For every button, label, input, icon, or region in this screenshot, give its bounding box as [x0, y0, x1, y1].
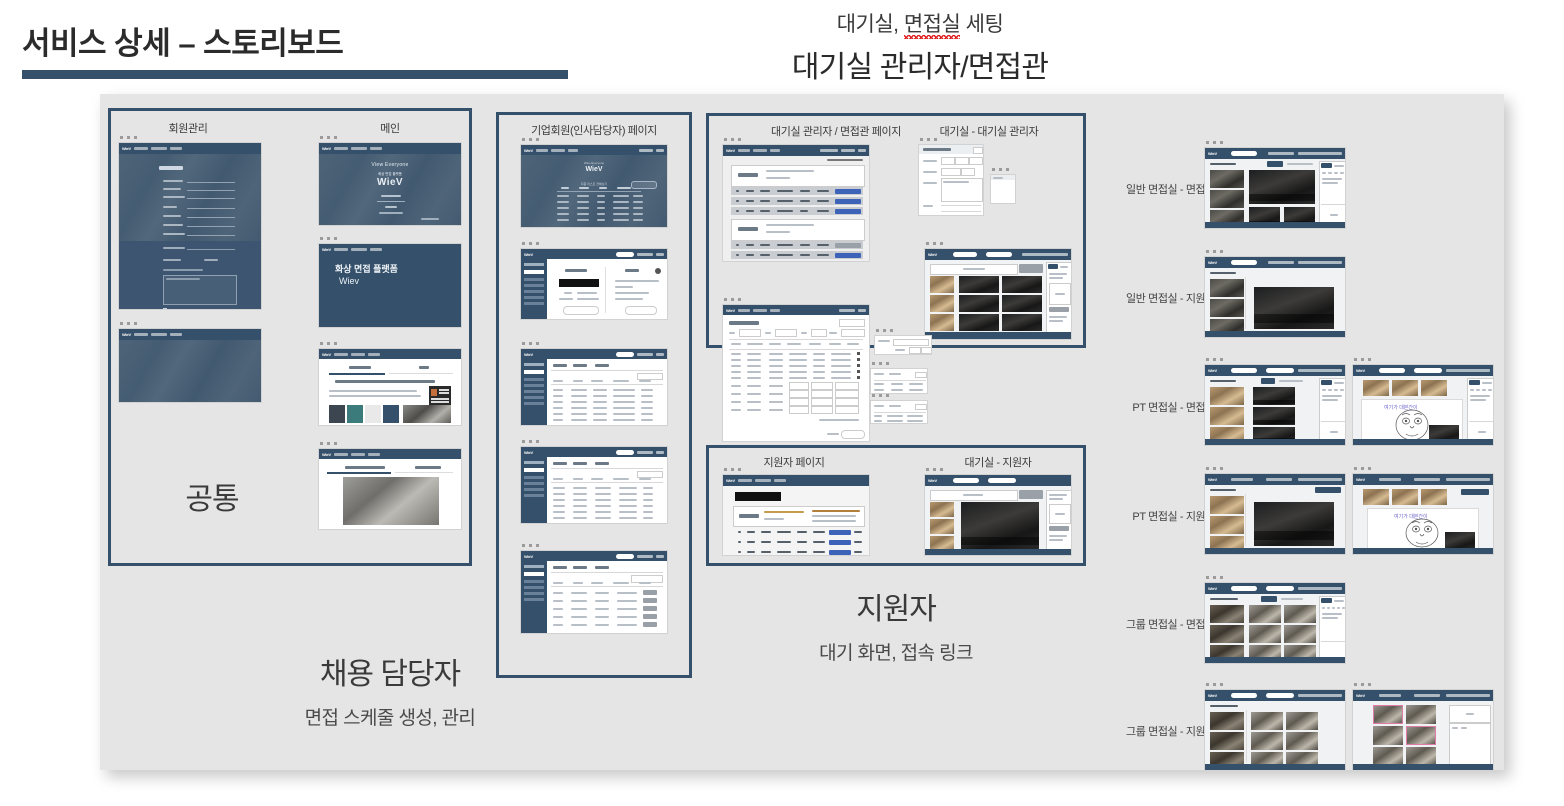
- window-mock-member-hero[interactable]: WieV: [118, 322, 262, 403]
- caption-bar: [961, 537, 1039, 545]
- window-dots: [318, 237, 462, 240]
- window-mock-platform[interactable]: WieV 화상 면접 플랫폼 Wiev: [318, 237, 462, 328]
- video-tile-selected[interactable]: [1406, 726, 1436, 745]
- row-checkbox[interactable]: [857, 376, 860, 379]
- window-mock-group-applicant[interactable]: WieV: [1204, 683, 1346, 771]
- page-heading: [729, 321, 759, 325]
- room-title-bar: [930, 264, 1018, 275]
- brand-logo: WieV: [1208, 260, 1217, 265]
- enter-room-button[interactable]: [835, 199, 861, 204]
- tab-button[interactable]: [1469, 380, 1480, 385]
- window-mock-pt-interviewer-board[interactable]: WieV 여기가 대본간이: [1352, 358, 1494, 446]
- video-tile[interactable]: [1210, 712, 1244, 730]
- tab-button[interactable]: [1048, 264, 1058, 269]
- hero-brand: WieV: [521, 166, 667, 173]
- side-panel: [1319, 378, 1346, 446]
- group-name: [739, 514, 759, 518]
- video-tile[interactable]: [1210, 605, 1244, 623]
- header-sub-pre: 대기실,: [837, 13, 904, 36]
- notice-box: [1049, 283, 1071, 305]
- mode-button[interactable]: [1261, 378, 1275, 384]
- video-tile[interactable]: [1210, 496, 1244, 514]
- footer-bar: [1205, 764, 1345, 770]
- section-heading-main: 메인: [380, 120, 399, 136]
- caption-main: 공통: [185, 474, 238, 518]
- window-dots: [520, 242, 668, 245]
- enter-room-button[interactable]: [829, 550, 851, 555]
- board-caption-common: 공통: [185, 474, 238, 518]
- brand-logo: WieV: [524, 554, 533, 559]
- brand-logo: WieV: [1208, 477, 1217, 482]
- window-mock-corp-hero[interactable]: WieV Wiev Everyone WieV 지원 리스트 전체보기: [520, 138, 668, 228]
- window-mock-applicant-page[interactable]: WieV: [722, 468, 870, 556]
- group-name: [738, 227, 758, 231]
- row-label-pt-applicant: PT 면접실 - 지원자: [1110, 508, 1215, 524]
- footer-bar: [1205, 657, 1345, 663]
- video-tile[interactable]: [1253, 387, 1295, 405]
- video-tile[interactable]: [1210, 299, 1244, 317]
- schedule-card: [733, 506, 865, 527]
- video-tile[interactable]: [1421, 489, 1447, 505]
- applicant-row[interactable]: [733, 548, 863, 556]
- board-caption-recruiter: 채용 담당자 면접 스케줄 생성, 관리: [305, 649, 476, 730]
- caption-main: 지원자: [819, 584, 973, 628]
- search-input[interactable]: [637, 373, 663, 380]
- inline-input[interactable]: [789, 406, 809, 414]
- caption-bar: [1254, 531, 1334, 540]
- window-mock-waitroom-applicant[interactable]: WieV: [924, 468, 1072, 556]
- request-button[interactable]: [1461, 489, 1489, 495]
- spellcheck-underlined-word: 면접실: [904, 13, 960, 36]
- inline-input[interactable]: [835, 390, 859, 398]
- video-tile-main[interactable]: [1249, 170, 1315, 204]
- storyboard-canvas: 회원관리 메인 WieV: [100, 94, 1504, 770]
- caption-main: 채용 담당자: [305, 649, 476, 693]
- inline-input[interactable]: [835, 398, 859, 406]
- save-button[interactable]: [841, 430, 865, 439]
- board-caption-applicant: 지원자 대기 화면, 접속 링크: [819, 584, 973, 665]
- enter-room-button[interactable]: [829, 540, 851, 545]
- window-dots: [918, 138, 984, 141]
- video-tile[interactable]: [1406, 705, 1436, 724]
- side-panel: [1046, 262, 1072, 334]
- filter-select[interactable]: [811, 329, 827, 337]
- popup-button[interactable]: [921, 347, 932, 354]
- tab-button[interactable]: [1321, 163, 1332, 168]
- inline-input[interactable]: [835, 382, 859, 390]
- caption-bar: [1253, 420, 1295, 424]
- search-input[interactable]: [637, 471, 663, 478]
- window-dots: [722, 138, 870, 141]
- video-tile[interactable]: [1253, 407, 1295, 425]
- window-dots: [870, 394, 928, 397]
- video-tile[interactable]: [1210, 407, 1244, 425]
- window-mock-signup[interactable]: WieV: [118, 136, 262, 310]
- schedule-row[interactable]: [731, 251, 863, 259]
- tab-button[interactable]: [1321, 598, 1332, 603]
- video-tile[interactable]: [1363, 380, 1389, 396]
- brand-logo: WieV: [1356, 477, 1365, 482]
- side-panel: [1319, 596, 1346, 664]
- side-panel-bottom: [1449, 723, 1491, 768]
- footer-bar: [1205, 222, 1345, 228]
- group-name: [738, 173, 758, 177]
- section-heading-corp-member: 기업회원(인사담당자) 페이지: [531, 122, 657, 138]
- window-dots: [1352, 683, 1494, 686]
- window-dots: [722, 298, 870, 301]
- window-dots: [1204, 576, 1346, 579]
- video-tile[interactable]: [959, 314, 999, 331]
- row-checkbox[interactable]: [857, 352, 860, 355]
- mode-button[interactable]: [1261, 596, 1277, 602]
- footer-bar: [925, 549, 1071, 555]
- row-label-normal-interviewer: 일반 면접실 - 면접관: [1110, 181, 1215, 197]
- video-tile[interactable]: [1210, 732, 1244, 750]
- side-panel: [1046, 490, 1072, 550]
- applicant-row[interactable]: [733, 538, 863, 546]
- row-action-button[interactable]: [643, 606, 657, 611]
- caption-bar: [1253, 400, 1295, 404]
- brand-logo: WieV: [322, 146, 331, 151]
- video-tile[interactable]: [1002, 276, 1042, 293]
- video-tile[interactable]: [930, 314, 954, 331]
- row-action-button[interactable]: [643, 622, 657, 627]
- window-dots: [520, 544, 668, 547]
- footer-bar: [1353, 764, 1493, 770]
- brand-logo: WieV: [322, 247, 331, 252]
- company-title-line: [565, 269, 587, 272]
- schedule-row[interactable]: [731, 187, 863, 195]
- video-tile[interactable]: [1210, 170, 1244, 188]
- row-label-pt-interviewer: PT 면접실 - 면접관: [1110, 399, 1215, 415]
- header-subtitle-small: 대기실, 면접실 세팅: [837, 8, 1004, 38]
- inline-input[interactable]: [811, 398, 833, 406]
- window-dots: [318, 342, 462, 345]
- option-chip[interactable]: [941, 157, 955, 165]
- window-mock-pt-applicant-board[interactable]: WieV 여기가 대본간이: [1352, 467, 1494, 555]
- side-panel: [1467, 378, 1494, 446]
- waiting-room-button[interactable]: [835, 253, 861, 258]
- window-dots: [1352, 358, 1494, 361]
- video-tile[interactable]: [1210, 516, 1244, 534]
- brand-logo: WieV: [122, 146, 131, 151]
- window-mock-normal-interviewer[interactable]: WieV: [1204, 141, 1346, 229]
- window-dots: [1204, 250, 1346, 253]
- inline-input[interactable]: [811, 382, 833, 390]
- schedule-row[interactable]: [731, 241, 863, 249]
- hero-sub: 화상 면접 플랫폼: [319, 171, 461, 176]
- section-heading-member-mgmt: 회원관리: [169, 120, 208, 136]
- video-tile[interactable]: [930, 295, 954, 312]
- brand-logo: WieV: [322, 352, 331, 357]
- window-mock-list-2[interactable]: WieV: [520, 440, 668, 524]
- video-tile[interactable]: [1286, 712, 1318, 730]
- filter-select[interactable]: [739, 329, 761, 337]
- video-tile[interactable]: [1286, 732, 1318, 750]
- popup-button[interactable]: [909, 347, 921, 354]
- window-mock-popup-c[interactable]: [870, 394, 928, 424]
- video-tile-main[interactable]: [1254, 287, 1334, 329]
- window-dots: [118, 136, 262, 139]
- brand-logo: WieV: [322, 452, 331, 457]
- header-subtitle-big: 대기실 관리자/면접관: [640, 42, 1200, 86]
- video-tile[interactable]: [1363, 489, 1389, 505]
- window-dots: [924, 242, 1072, 245]
- window-mock-popup-b[interactable]: [870, 362, 928, 394]
- window-mock-popup-a[interactable]: [874, 329, 932, 355]
- video-tile[interactable]: [1392, 380, 1418, 396]
- window-mock-pt-applicant[interactable]: WieV: [1204, 467, 1346, 555]
- close-icon[interactable]: [973, 147, 983, 154]
- row-action-button[interactable]: [643, 598, 657, 603]
- video-tile[interactable]: [930, 519, 954, 534]
- video-tile[interactable]: [1210, 190, 1244, 208]
- notice-box: [1049, 504, 1071, 524]
- video-tile[interactable]: [930, 276, 954, 293]
- filter-input[interactable]: [841, 329, 865, 337]
- row-label-group-applicant: 그룹 면접실 - 지원자: [1110, 723, 1215, 739]
- footer-bar: [1205, 548, 1345, 554]
- section-heading-waitroom-admin: 대기실 관리자 / 면접관 페이지: [771, 123, 901, 139]
- window-mock-content[interactable]: WieV: [318, 342, 462, 426]
- profile-action-button[interactable]: [625, 306, 657, 315]
- video-tile[interactable]: [1249, 625, 1281, 643]
- window-mock-profile[interactable]: WieV: [520, 242, 668, 320]
- popup-button[interactable]: [915, 372, 927, 378]
- caption-bar: [1254, 314, 1334, 323]
- whiteboard-face-drawing: [1392, 517, 1452, 549]
- video-tile[interactable]: [1392, 489, 1418, 505]
- video-preview: [343, 477, 439, 525]
- popup-input[interactable]: [893, 339, 929, 346]
- footer-bar: [925, 332, 1071, 339]
- window-dots: [870, 362, 928, 365]
- window-dots: [520, 138, 668, 141]
- side-panel-top: [1449, 705, 1491, 723]
- popup-button[interactable]: [915, 404, 927, 410]
- option-chip[interactable]: [961, 168, 975, 176]
- inline-input[interactable]: [789, 398, 809, 406]
- window-dots: [520, 342, 668, 345]
- section-heading-waitroom-manager: 대기실 - 대기실 관리자: [940, 123, 1039, 139]
- window-mock-waitroom-manager[interactable]: WieV: [924, 242, 1072, 340]
- video-tile[interactable]: [1284, 625, 1316, 643]
- gear-icon[interactable]: [655, 268, 661, 274]
- footer-bar: [1353, 548, 1493, 554]
- submit-button[interactable]: [1049, 307, 1069, 312]
- window-dots: [118, 322, 262, 325]
- brand-logo: WieV: [122, 332, 131, 337]
- footer-bar: [1205, 439, 1345, 445]
- header-sub-post: 세팅: [960, 13, 1003, 36]
- option-chip[interactable]: [955, 157, 969, 165]
- window-dots: [1204, 467, 1346, 470]
- window-mock-group-applicant-grid[interactable]: WieV: [1352, 683, 1494, 771]
- window-mock-group-interviewer[interactable]: WieV: [1204, 576, 1346, 664]
- caption-sub: 면접 스케줄 생성, 관리: [305, 703, 476, 730]
- title-underline-bar: [22, 70, 568, 79]
- window-dots: [874, 329, 932, 332]
- window-dots: [1204, 683, 1346, 686]
- inline-input[interactable]: [789, 390, 809, 398]
- brand-logo: WieV: [726, 478, 735, 483]
- row-checkbox[interactable]: [857, 358, 860, 361]
- applicant-row[interactable]: [733, 528, 863, 536]
- window-dots: [1204, 358, 1346, 361]
- video-tile[interactable]: [1249, 605, 1281, 623]
- brand-logo: WieV: [1208, 151, 1217, 156]
- window-mock-list-3[interactable]: WieV: [520, 544, 668, 634]
- inline-input[interactable]: [835, 406, 859, 414]
- schedule-card-1: [731, 165, 865, 187]
- request-button[interactable]: [1315, 487, 1341, 493]
- video-tile[interactable]: [1421, 380, 1447, 396]
- brand-logo: WieV: [928, 478, 937, 483]
- enter-room-button[interactable]: [835, 209, 861, 214]
- platform-title: 화상 면접 플랫폼: [335, 262, 398, 275]
- page-title: 서비스 상세 – 스토리보드: [22, 18, 343, 63]
- window-mock-main-hero[interactable]: WieV View Everyone 화상 면접 플랫폼 WieV: [318, 136, 462, 226]
- inline-input[interactable]: [789, 382, 809, 390]
- brand-logo: WieV: [1356, 368, 1365, 373]
- brand-logo: WieV: [524, 148, 533, 153]
- video-tile-selected[interactable]: [1373, 705, 1403, 724]
- window-dots: [722, 468, 870, 471]
- brand-logo: WieV: [726, 308, 735, 313]
- video-tile[interactable]: [1373, 726, 1403, 745]
- company-action-button[interactable]: [563, 306, 599, 315]
- inline-input[interactable]: [811, 390, 833, 398]
- brand-logo: WieV: [726, 148, 735, 153]
- enter-room-button[interactable]: [829, 530, 851, 535]
- brand-logo: WieV: [524, 352, 533, 357]
- enter-room-button[interactable]: [835, 189, 861, 194]
- video-tile[interactable]: [1251, 712, 1283, 730]
- option-chip[interactable]: [941, 168, 961, 176]
- brand-logo: WieV: [928, 252, 937, 257]
- window-mock-list-1[interactable]: WieV: [520, 342, 668, 426]
- caption-bar: [1249, 194, 1315, 201]
- video-tile[interactable]: [1210, 625, 1244, 643]
- window-dots: [1352, 467, 1494, 470]
- row-label-group-interviewer: 그룹 면접실 - 면접관: [1110, 616, 1215, 632]
- brand-logo: WieV: [1208, 586, 1217, 591]
- window-mock-pt-interviewer[interactable]: WieV: [1204, 358, 1346, 446]
- window-dots: [990, 168, 1016, 171]
- window-dots: [924, 468, 1072, 471]
- video-tile[interactable]: [959, 295, 999, 312]
- video-tile[interactable]: [1002, 314, 1042, 331]
- brand-logo: WieV: [524, 450, 533, 455]
- video-tile[interactable]: [1210, 279, 1244, 297]
- profile-title: [625, 269, 639, 272]
- hero-tagline: View Everyone: [319, 162, 461, 168]
- video-tile-main[interactable]: [961, 502, 1039, 551]
- window-mock-room-small[interactable]: [990, 168, 1016, 204]
- window-dots: [318, 442, 462, 445]
- tab-button[interactable]: [1321, 380, 1332, 385]
- row-checkbox[interactable]: [857, 364, 860, 367]
- filter-select[interactable]: [775, 329, 797, 337]
- mode-button[interactable]: [1267, 161, 1283, 167]
- window-mock-waitroom-admin[interactable]: WieV: [722, 138, 870, 262]
- schedule-row[interactable]: [731, 207, 863, 215]
- view-all-button[interactable]: [631, 181, 657, 189]
- brand-logo: WieV: [524, 252, 533, 257]
- hero-brand: WieV: [319, 177, 461, 188]
- video-tile[interactable]: [959, 276, 999, 293]
- row-label-normal-applicant: 일반 면접실 - 지원자: [1110, 290, 1215, 306]
- side-panel: [1319, 161, 1346, 229]
- video-tile[interactable]: [1251, 732, 1283, 750]
- platform-brand: Wiev: [339, 276, 359, 286]
- waiting-room-button[interactable]: [835, 243, 861, 248]
- header-subtitle-block: 대기실, 면접실 세팅 대기실 관리자/면접관: [640, 8, 1200, 86]
- window-dots: [1204, 141, 1346, 144]
- video-tile[interactable]: [930, 502, 954, 517]
- brand-logo: WieV: [1208, 368, 1217, 373]
- company-black-bar: [735, 492, 781, 501]
- room-title-bar: [930, 490, 1018, 501]
- hero-tagline: Wiev Everyone: [521, 161, 667, 165]
- start-button[interactable]: [1019, 264, 1043, 273]
- video-tile[interactable]: [1284, 605, 1316, 623]
- row-checkbox[interactable]: [857, 370, 860, 373]
- search-button[interactable]: [839, 319, 865, 327]
- row-action-button[interactable]: [643, 614, 657, 619]
- schedule-row[interactable]: [731, 197, 863, 205]
- option-chip[interactable]: [969, 157, 983, 165]
- brand-logo: WieV: [1208, 693, 1217, 698]
- photo-thumbnail: [403, 405, 451, 423]
- schedule-card-2: [731, 219, 865, 241]
- window-dots: [318, 136, 462, 139]
- window-mock-schedule-mgmt[interactable]: WieV: [722, 298, 870, 442]
- video-tile[interactable]: [1210, 387, 1244, 405]
- video-tile[interactable]: [1002, 295, 1042, 312]
- window-dots: [520, 440, 668, 443]
- inline-input[interactable]: [811, 406, 833, 414]
- footer-bar: [1205, 331, 1345, 337]
- window-mock-video[interactable]: WieV: [318, 442, 462, 530]
- submit-button[interactable]: [1049, 526, 1069, 531]
- footer-bar: [1353, 439, 1493, 445]
- video-tile-main[interactable]: [1254, 502, 1334, 546]
- brand-logo: WieV: [1356, 693, 1365, 698]
- row-action-button[interactable]: [643, 590, 657, 595]
- company-black-bar: [559, 279, 599, 287]
- start-button[interactable]: [1019, 490, 1043, 499]
- window-mock-normal-applicant[interactable]: WieV: [1204, 250, 1346, 338]
- caption-sub: 대기 화면, 접속 링크: [819, 638, 973, 665]
- window-mock-room-settings[interactable]: [918, 138, 984, 216]
